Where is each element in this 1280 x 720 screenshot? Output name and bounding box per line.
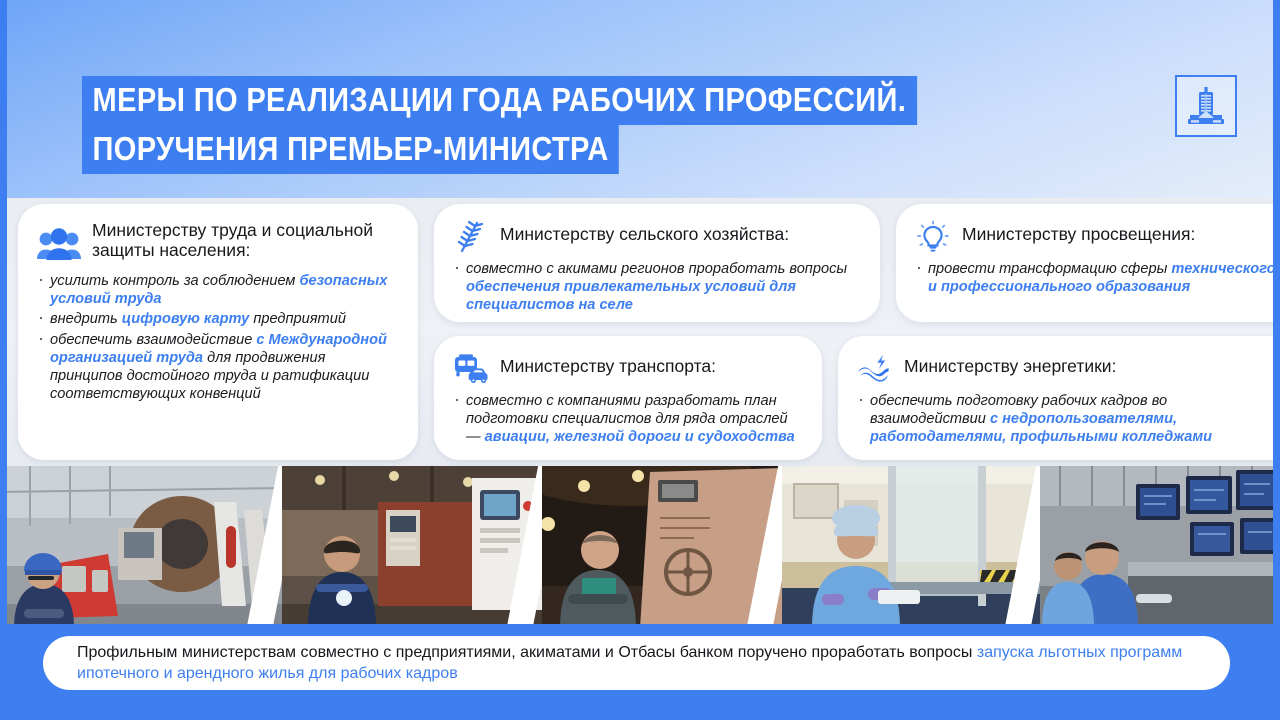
lightbulb-icon xyxy=(914,218,952,256)
card-bullet-list: провести трансформацию сферы техническог… xyxy=(914,260,1278,296)
title-line-2: ПОРУЧЕНИЯ ПРЕМЬЕР-МИНИСТРА xyxy=(82,125,619,174)
list-item: совместно с акимами регионов проработать… xyxy=(452,260,862,315)
slide-title: МЕРЫ ПО РЕАЛИЗАЦИИ ГОДА РАБОЧИХ ПРОФЕССИ… xyxy=(82,76,1031,174)
card-title: Министерству труда и социальной защиты н… xyxy=(92,218,400,260)
card-title: Министерству просвещения: xyxy=(962,218,1195,244)
photo-foundry-worker xyxy=(542,466,782,628)
card-bullet-list: обеспечить подготовку рабочих кадров во … xyxy=(856,392,1278,447)
banner-text: Профильным министерствам совместно с пре… xyxy=(77,642,1196,684)
list-item: внедрить цифровую карту предприятий xyxy=(36,310,400,328)
card-bullet-list: совместно с акимами регионов проработать… xyxy=(452,260,862,315)
people-group-icon xyxy=(36,222,82,268)
slide-root: МЕРЫ ПО РЕАЛИЗАЦИИ ГОДА РАБОЧИХ ПРОФЕССИ… xyxy=(0,0,1280,720)
card-title: Министерству транспорта: xyxy=(500,350,716,376)
list-item: обеспечить подготовку рабочих кадров во … xyxy=(856,392,1278,447)
card-title: Министерству энергетики: xyxy=(904,350,1116,376)
card-bullet-list: усилить контроль за соблюдением безопасн… xyxy=(36,272,400,403)
card-header: Министерству энергетики: xyxy=(856,350,1278,388)
government-building-icon xyxy=(1186,85,1226,127)
photo-worker-control-panel xyxy=(0,466,282,628)
summary-banner: Профильным министерствам совместно с пре… xyxy=(43,636,1230,690)
photo-strip xyxy=(0,466,1280,628)
energy-wave-bolt-icon xyxy=(856,350,894,388)
bus-car-icon xyxy=(452,350,490,388)
photo-control-room xyxy=(1040,466,1280,628)
list-item: обеспечить взаимодействие с Международно… xyxy=(36,331,400,404)
wheat-stalk-icon xyxy=(452,218,490,256)
list-item: совместно с компаниями разработать план … xyxy=(452,392,804,447)
card-title: Министерству сельского хозяйства: xyxy=(500,218,789,244)
card-header: Министерству сельского хозяйства: xyxy=(452,218,862,256)
left-accent-rail xyxy=(0,0,7,720)
card-header: Министерству труда и социальной защиты н… xyxy=(36,218,400,268)
photo-machine-operator xyxy=(282,466,542,628)
card-bullet-list: совместно с компаниями разработать план … xyxy=(452,392,804,447)
list-item: усилить контроль за соблюдением безопасн… xyxy=(36,272,400,308)
government-logo xyxy=(1175,75,1237,137)
right-accent-rail xyxy=(1273,0,1280,720)
card-ministry-education: Министерству просвещения: провести транс… xyxy=(896,204,1280,322)
card-ministry-agriculture: Министерству сельского хозяйства: совмес… xyxy=(434,204,880,322)
card-header: Министерству просвещения: xyxy=(914,218,1278,256)
list-item: провести трансформацию сферы техническог… xyxy=(914,260,1278,296)
title-line-1: МЕРЫ ПО РЕАЛИЗАЦИИ ГОДА РАБОЧИХ ПРОФЕССИ… xyxy=(82,76,917,125)
photo-lab-technician xyxy=(782,466,1040,628)
card-ministry-energy: Министерству энергетики: обеспечить подг… xyxy=(838,336,1280,460)
card-ministry-labor: Министерству труда и социальной защиты н… xyxy=(18,204,418,460)
card-ministry-transport: Министерству транспорта: совместно с ком… xyxy=(434,336,822,460)
card-header: Министерству транспорта: xyxy=(452,350,804,388)
ministry-cards: Министерству труда и социальной защиты н… xyxy=(0,200,1280,464)
